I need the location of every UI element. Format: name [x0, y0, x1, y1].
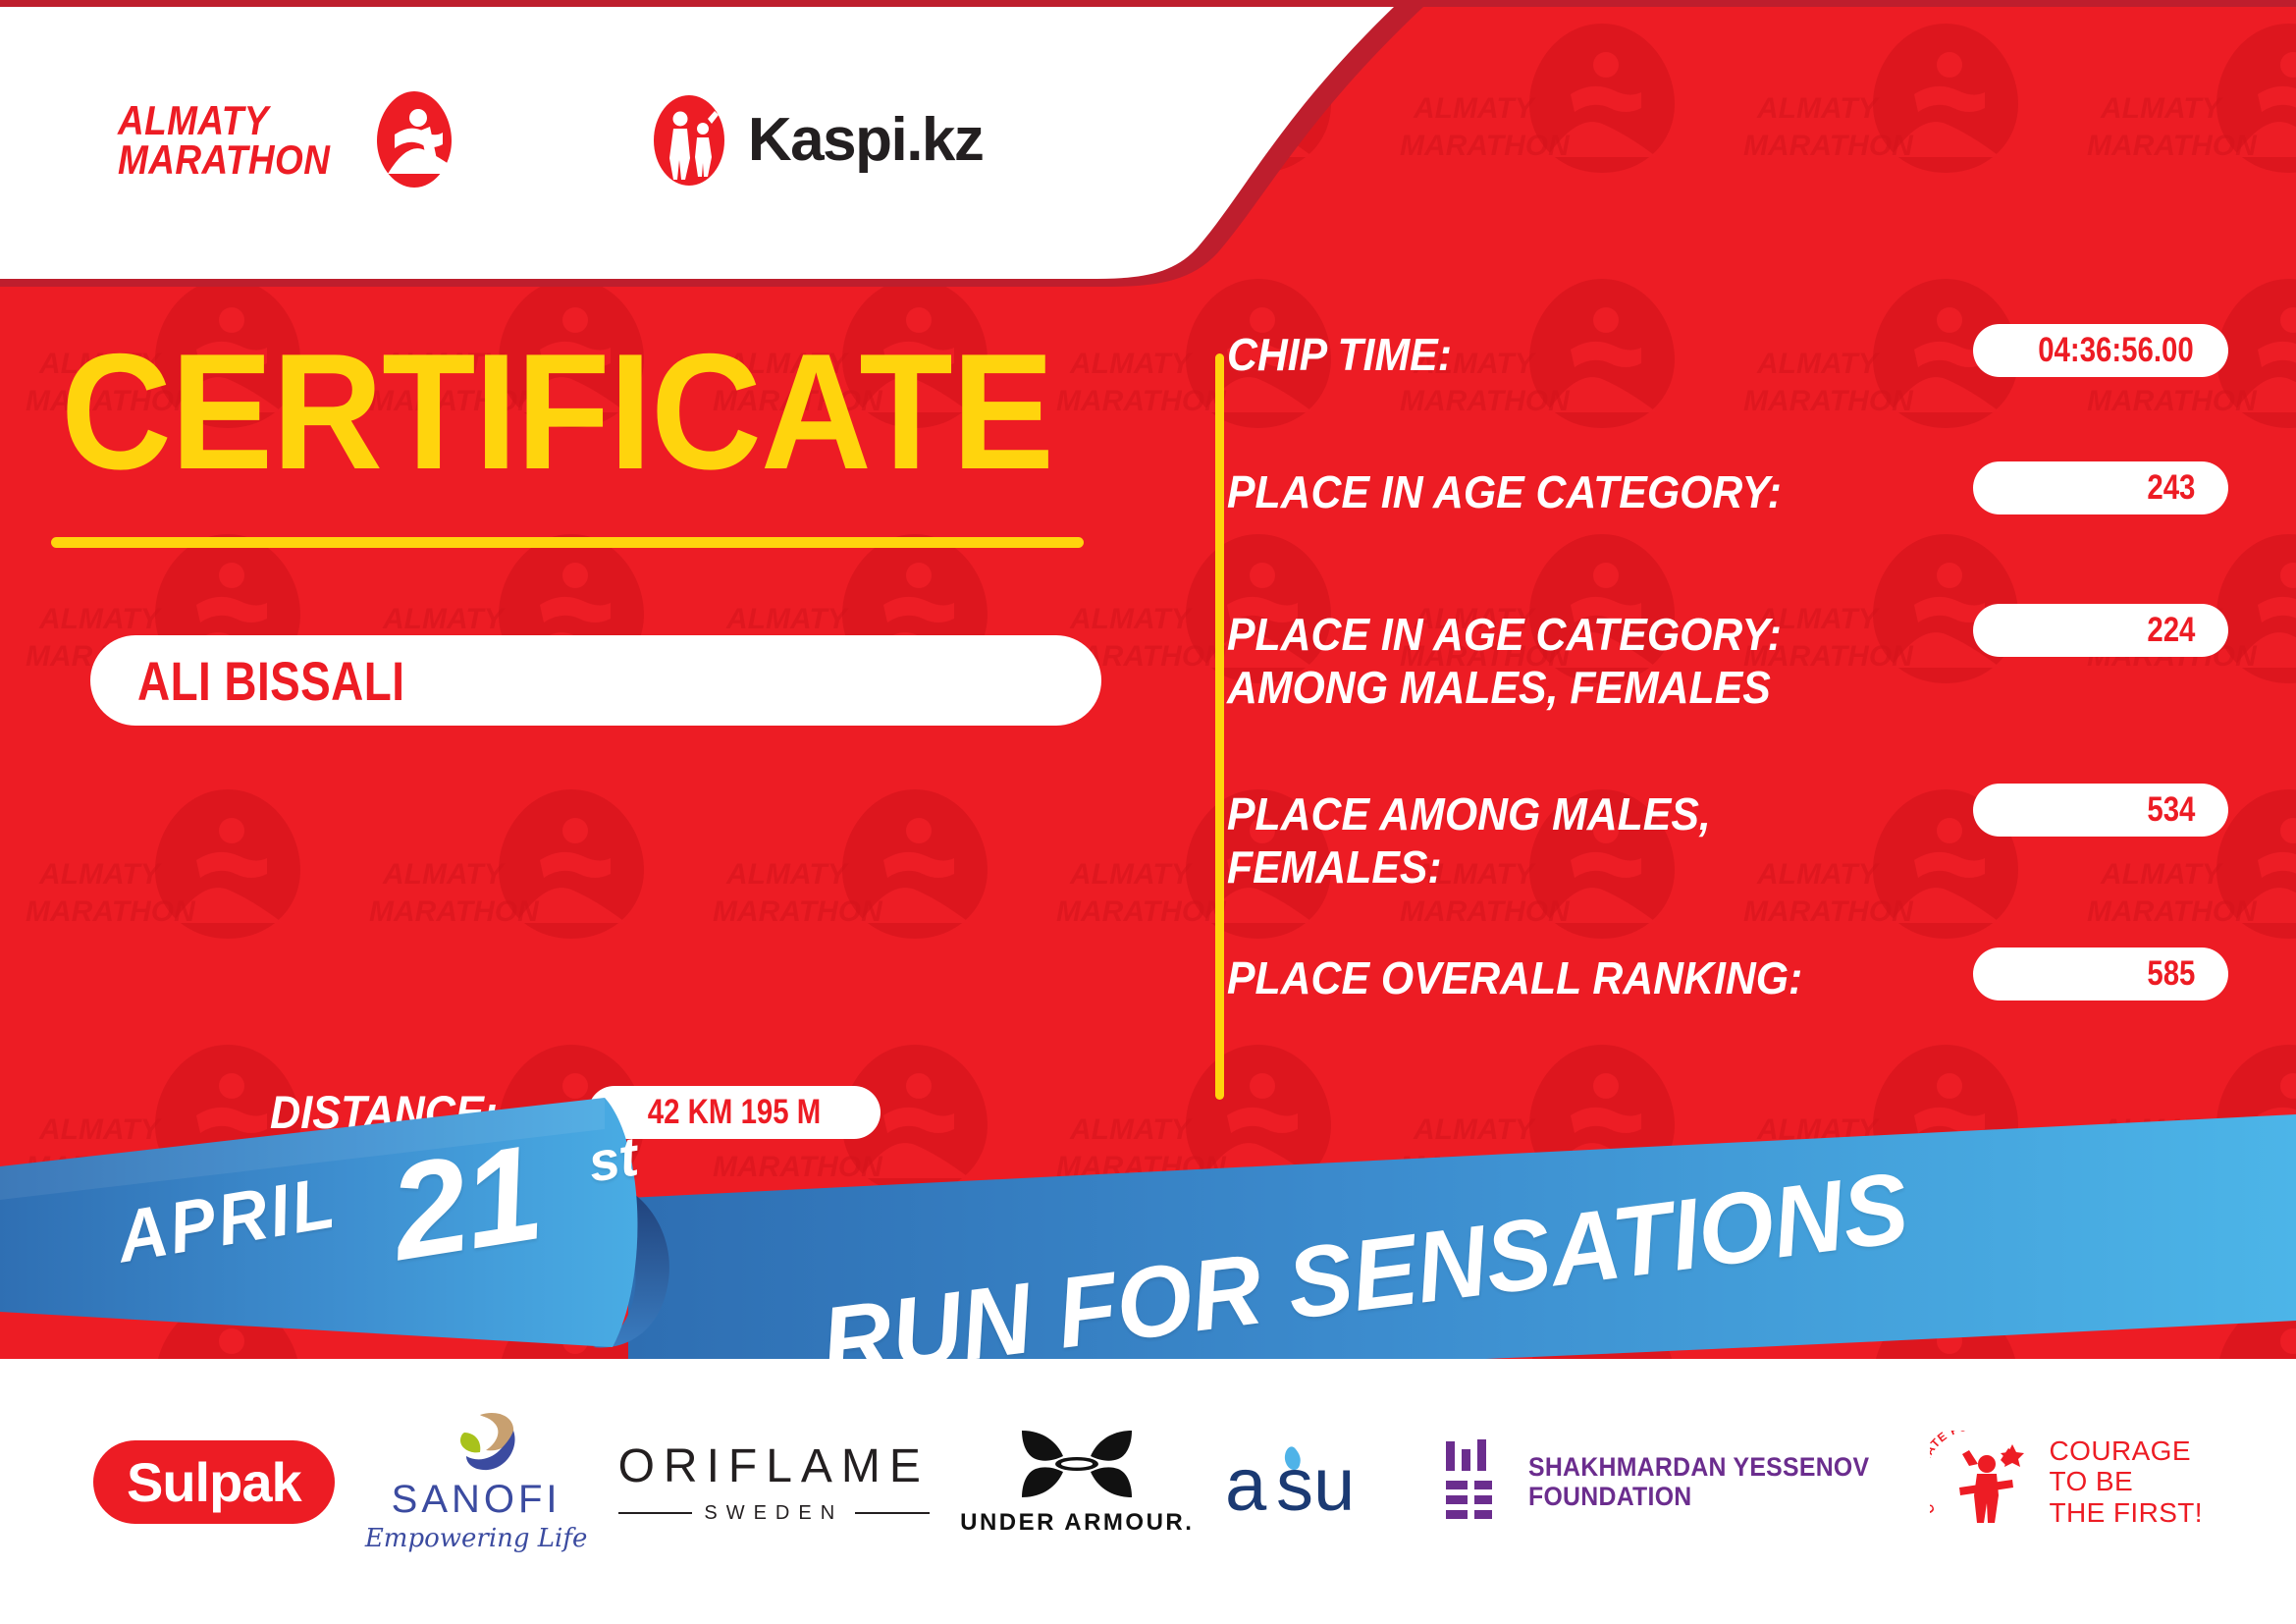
oriflame-rule-left [618, 1512, 693, 1514]
column-divider [1215, 353, 1224, 1100]
place-age-category-value-pill: 243 [1973, 461, 2228, 514]
sponsor-sulpak: Sulpak [93, 1418, 335, 1545]
oriflame-sub: SWEDEN [704, 1502, 843, 1525]
almaty-marathon-logo: ALMATY MARATHON [118, 89, 455, 191]
label-line-2: AMONG MALES, FEMALES [1227, 661, 1921, 714]
place-age-category-gender-label: PLACE IN AGE CATEGORY: AMONG MALES, FEMA… [1227, 604, 1921, 715]
yessenov-line-2: FOUNDATION [1528, 1482, 1869, 1511]
svg-text:su: su [1276, 1443, 1355, 1524]
sponsor-asu: a su [1225, 1418, 1412, 1545]
sponsor-courage-fund: CORPORATE FUND COURAGE TO BE THE FIRST! [1930, 1418, 2203, 1545]
athlete-name-field: ALI BISSALI [90, 635, 1101, 726]
asu-logo: a su [1225, 1439, 1412, 1524]
svg-text:a: a [1225, 1443, 1267, 1524]
sanofi-logo: SANOFI Empowering Life [365, 1411, 588, 1553]
result-row-place-among-gender: PLACE AMONG MALES, FEMALES: 534 [1227, 784, 2228, 894]
yessenov-mark-icon [1442, 1439, 1503, 1524]
courage-line-2: TO BE [2050, 1466, 2203, 1497]
kaspi-figures-icon [652, 93, 726, 188]
certificate-body: CERTIFICATE ALI BISSALI DISTANCE: 42 KM … [0, 280, 2296, 1144]
under-armour-logo: UNDER ARMOUR. [960, 1427, 1194, 1537]
yessenov-line-1: SHAKHMARDAN YESSENOV [1528, 1452, 1869, 1482]
kaspi-wordmark: Kaspi.kz [748, 105, 984, 175]
place-age-category-value: 243 [2147, 468, 2195, 508]
sponsor-sanofi: SANOFI Empowering Life [365, 1418, 588, 1545]
sponsor-under-armour: UNDER ARMOUR. [960, 1418, 1194, 1545]
label-line-1: PLACE AMONG MALES, [1227, 787, 1921, 840]
place-overall-label: PLACE OVERALL RANKING: [1227, 947, 1921, 1004]
title-underline [51, 537, 1084, 548]
place-age-category-gender-value-pill: 224 [1973, 604, 2228, 657]
courage-mark-icon: CORPORATE FUND [1930, 1431, 2036, 1533]
sponsor-oriflame: ORIFLAME SWEDEN [618, 1418, 930, 1545]
oriflame-logo: ORIFLAME SWEDEN [618, 1439, 930, 1525]
under-armour-mark-icon [1014, 1427, 1140, 1501]
place-among-gender-value-pill: 534 [1973, 784, 2228, 837]
under-armour-wordmark: UNDER ARMOUR. [960, 1509, 1194, 1537]
sponsor-strip: Sulpak SANOFI Empowering Life ORIFLAME S… [0, 1359, 2296, 1624]
place-among-gender-label: PLACE AMONG MALES, FEMALES: [1227, 784, 1921, 894]
chip-time-value: 04:36:56.00 [2038, 331, 2194, 370]
marathon-logo-line2: MARATHON [118, 140, 330, 179]
result-row-place-age-category: PLACE IN AGE CATEGORY: 243 [1227, 461, 2228, 518]
result-row-chip-time: CHIP TIME: 04:36:56.00 [1227, 324, 2228, 381]
place-age-category-label: PLACE IN AGE CATEGORY: [1227, 461, 1921, 518]
sanofi-wordmark: SANOFI [392, 1478, 561, 1522]
page-title: CERTIFICATE [61, 329, 1053, 494]
ribbon-ordinal: st [584, 1124, 642, 1195]
oriflame-rule-right [855, 1512, 930, 1514]
place-among-gender-value: 534 [2147, 790, 2195, 830]
result-row-place-overall: PLACE OVERALL RANKING: 585 [1227, 947, 2228, 1004]
chip-time-label: CHIP TIME: [1227, 324, 1921, 381]
athlete-name-value: ALI BISSALI [137, 649, 404, 713]
almaty-marathon-runner-drop-icon [373, 89, 455, 191]
sanofi-tagline: Empowering Life [365, 1524, 588, 1553]
ribbon-day: 21 [381, 1115, 551, 1292]
oriflame-wordmark: ORIFLAME [618, 1439, 930, 1493]
header: ALMATY MARATHON [0, 0, 2296, 295]
chip-time-value-pill: 04:36:56.00 [1973, 324, 2228, 377]
certificate-canvas: ALMATY MARATHON ALMATY MARATHON [0, 0, 2296, 1624]
place-overall-value-pill: 585 [1973, 947, 2228, 1001]
courage-line-3: THE FIRST! [2050, 1497, 2203, 1529]
top-accent-stripe [0, 0, 2296, 7]
courage-to-be-the-first-logo: CORPORATE FUND COURAGE TO BE THE FIRST! [1930, 1431, 2203, 1533]
asu-mark-icon: a su [1225, 1439, 1412, 1524]
kaspi-logo: Kaspi.kz [652, 93, 984, 188]
label-line-2: FEMALES: [1227, 840, 1921, 893]
sponsor-yessenov-foundation: SHAKHMARDAN YESSENOV FOUNDATION [1442, 1418, 1899, 1545]
result-row-place-age-category-gender: PLACE IN AGE CATEGORY: AMONG MALES, FEMA… [1227, 604, 2228, 715]
left-column: CERTIFICATE ALI BISSALI DISTANCE: 42 KM … [0, 280, 1212, 1144]
yessenov-foundation-logo: SHAKHMARDAN YESSENOV FOUNDATION [1442, 1439, 1899, 1524]
label-line-1: PLACE IN AGE CATEGORY: [1227, 608, 1921, 661]
sulpak-logo: Sulpak [93, 1440, 335, 1524]
place-overall-value: 585 [2147, 954, 2195, 994]
courage-line-1: COURAGE [2050, 1435, 2203, 1467]
results-column: CHIP TIME: 04:36:56.00 PLACE IN AGE CATE… [1227, 280, 2296, 1144]
sanofi-mark-icon [429, 1411, 523, 1476]
place-age-category-gender-value: 224 [2147, 611, 2195, 650]
marathon-logo-line1: ALMATY [118, 101, 330, 139]
